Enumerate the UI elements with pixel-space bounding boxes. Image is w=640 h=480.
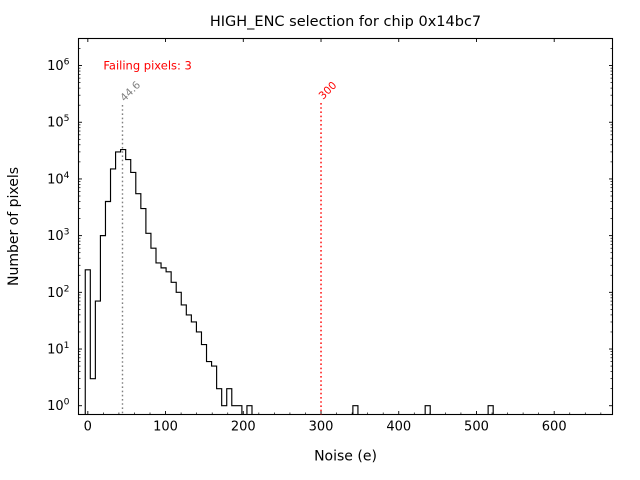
x-tick-label: 300: [309, 420, 334, 435]
chart-title: HIGH_ENC selection for chip 0x14bc7: [210, 14, 481, 30]
x-axis-label: Noise (e): [314, 449, 377, 465]
x-tick-label: 100: [153, 420, 178, 435]
x-tick-label: 600: [542, 420, 567, 435]
histogram-steps: [85, 150, 493, 415]
mean-line-label: 44.6: [118, 79, 143, 104]
histogram-chart: 0100200300400500600100101102103104105106…: [0, 0, 640, 480]
y-tick-label: 100: [47, 397, 70, 415]
y-tick-label: 102: [47, 283, 69, 301]
y-tick-label: 106: [47, 57, 70, 75]
y-tick-label: 103: [47, 227, 70, 245]
x-tick-label: 0: [84, 420, 92, 435]
figure-container: 0100200300400500600100101102103104105106…: [0, 0, 640, 480]
x-tick-label: 400: [386, 420, 411, 435]
failing-pixels-annotation: Failing pixels: 3: [103, 59, 191, 73]
y-tick-label: 101: [47, 340, 69, 358]
y-tick-label: 104: [47, 170, 70, 188]
x-tick-label: 200: [231, 420, 256, 435]
y-tick-label: 105: [47, 113, 70, 130]
threshold-line-label: 300: [317, 79, 340, 102]
y-axis-label: Number of pixels: [6, 167, 22, 286]
plot-frame: [79, 39, 613, 415]
x-tick-label: 500: [464, 420, 489, 435]
